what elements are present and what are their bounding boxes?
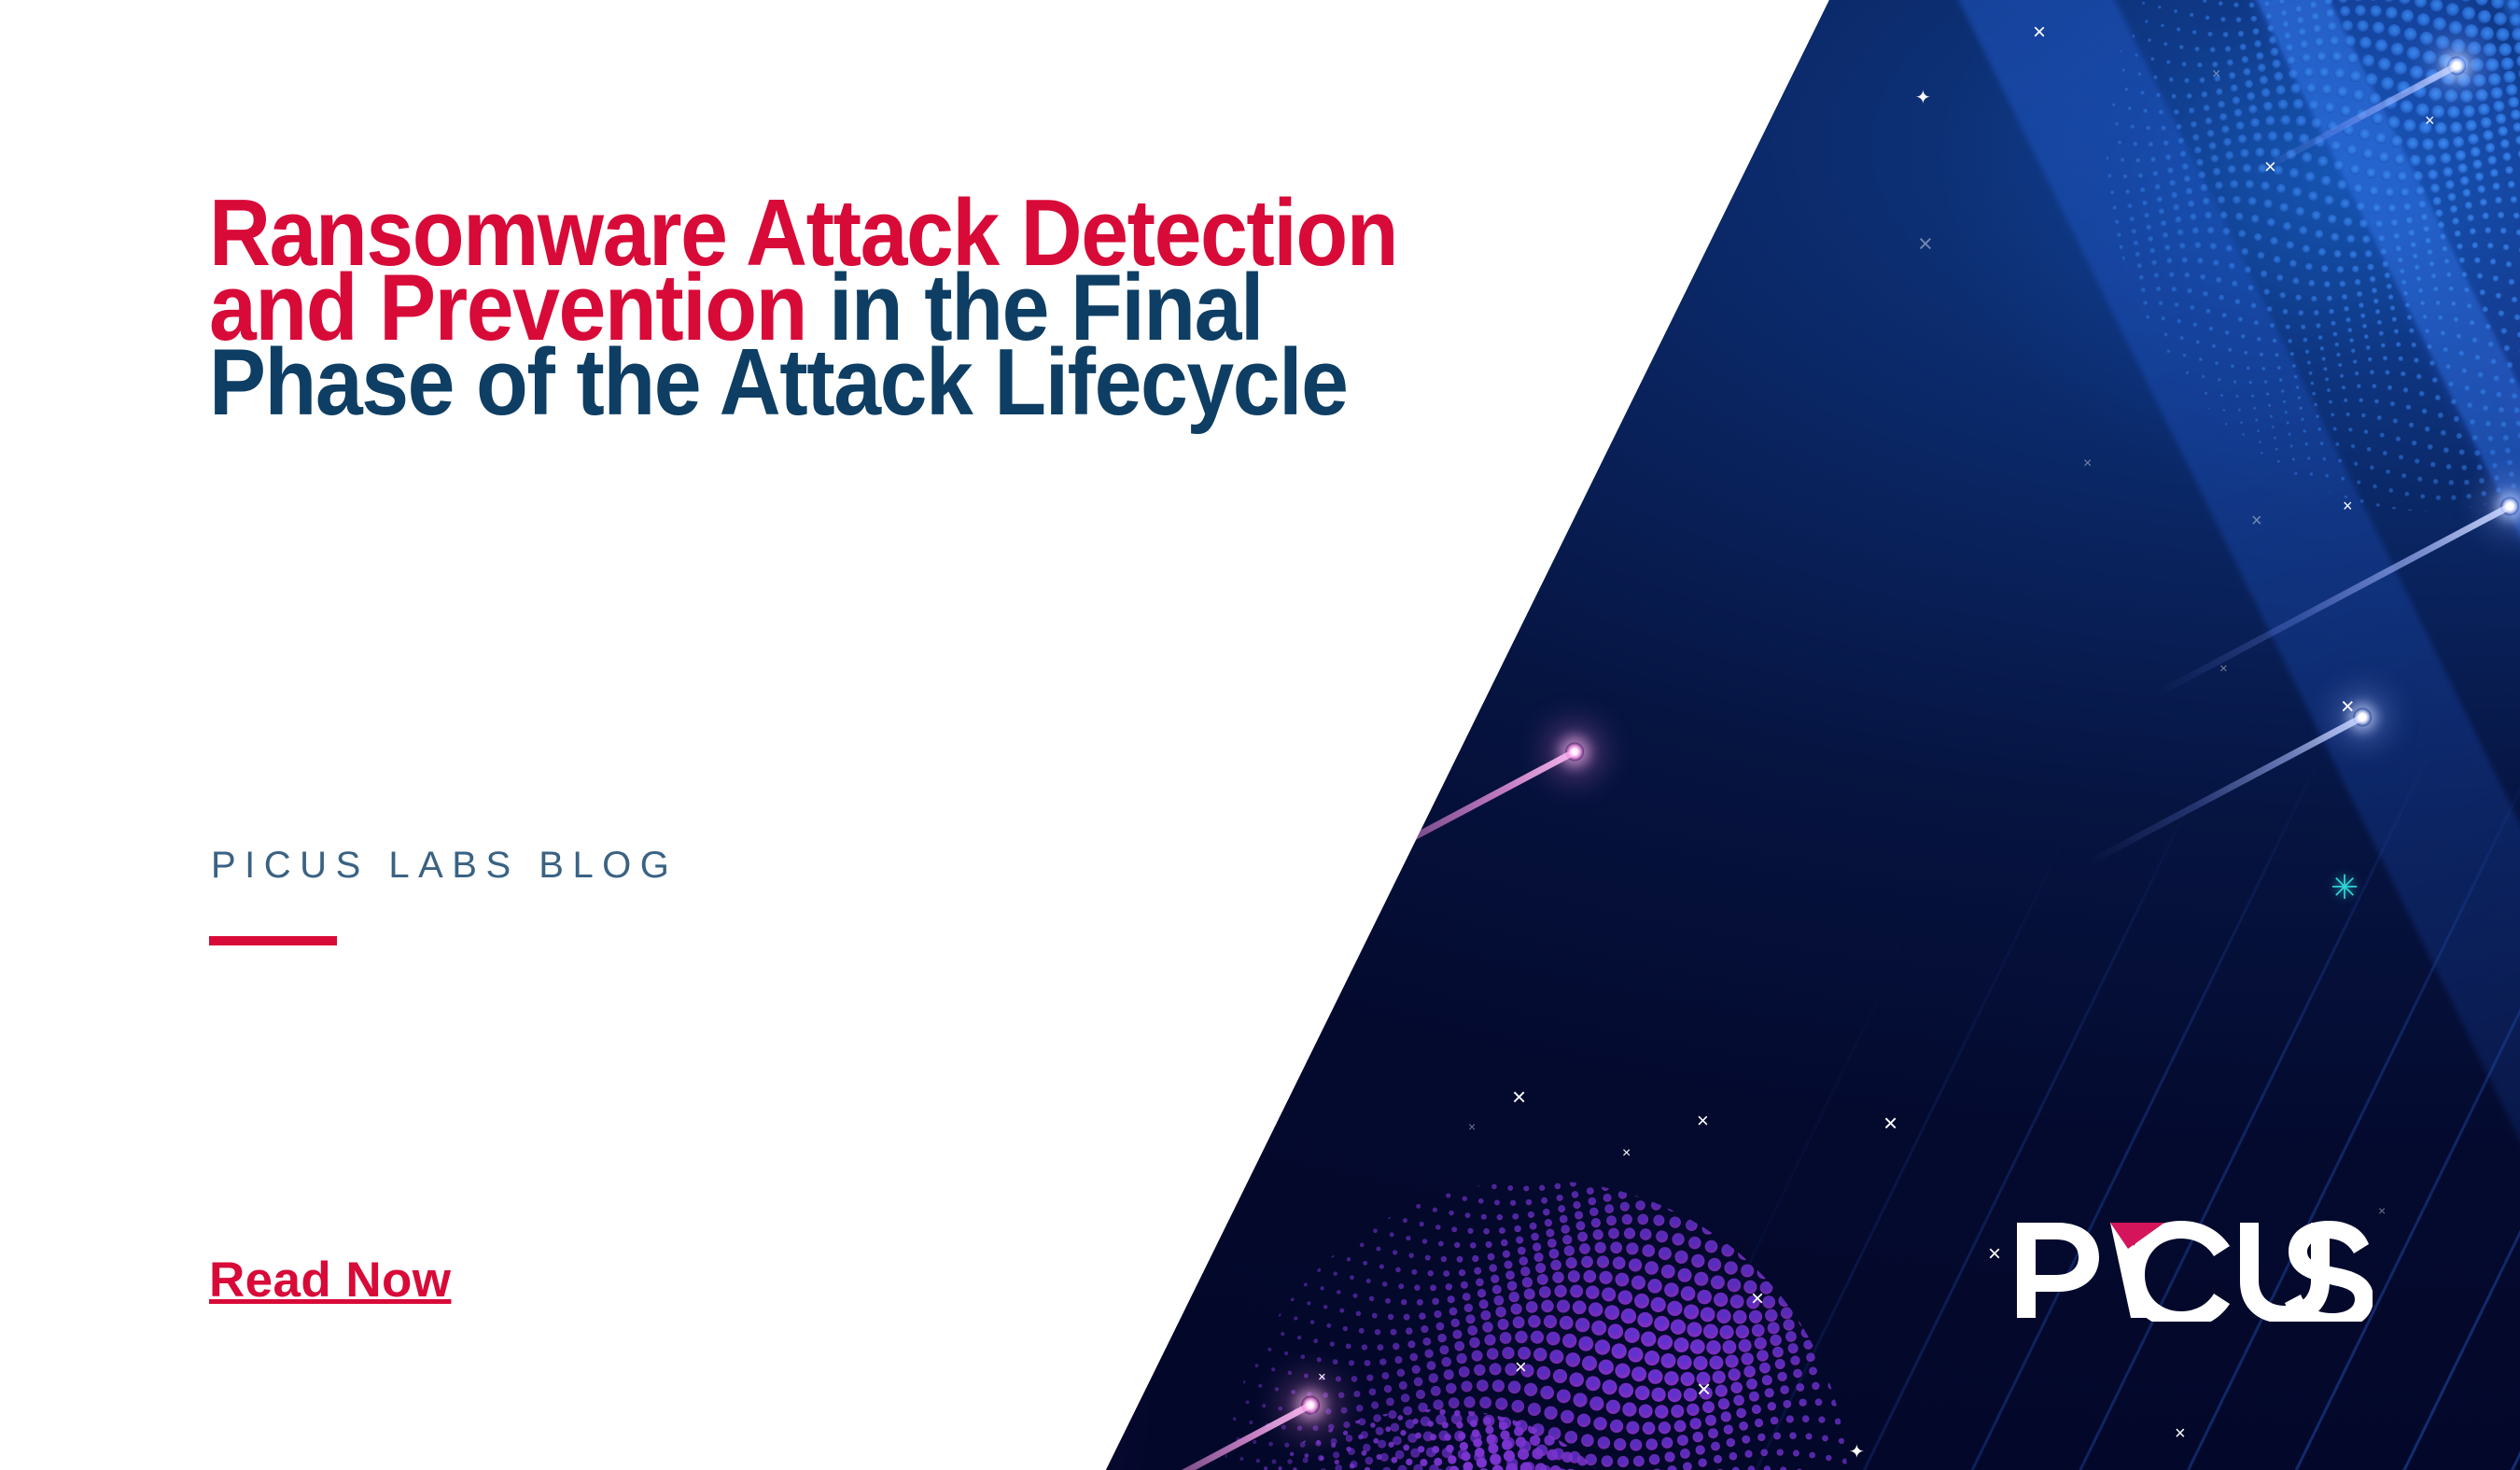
sparkle-x-icon: × (2251, 511, 2262, 530)
headline-line-3: Phase of the Attack Lifecycle (209, 330, 1348, 435)
sparkle-x-icon: × (1988, 1243, 2001, 1266)
sparkle-x-icon: × (1883, 1111, 1897, 1135)
sparkle-x-icon: × (2083, 456, 2092, 471)
sparkle-x-icon: × (2378, 1204, 2386, 1217)
sparkle-x-icon: × (2175, 1424, 2186, 1443)
sparkle-x-icon: × (1697, 1377, 1711, 1401)
sparkle-x-icon: × (2219, 662, 2228, 676)
sparkle-x-icon: ✦ (1849, 1443, 1865, 1462)
sparkle-x-icon: × (1918, 231, 1933, 257)
kicker-label: PICUS LABS BLOG (211, 845, 678, 887)
sparkle-x-icon: × (2425, 112, 2435, 129)
sparkle-star-teal-icon: ✳ (2331, 871, 2359, 904)
content-column: Ransomware Attack Detection and Preventi… (209, 0, 1609, 1470)
sparkle-x-icon: × (1622, 1146, 1631, 1161)
promo-card: × × × × × × × × × × ✳ × × × × × × × × × … (0, 0, 2520, 1470)
sparkle-x-icon: × (2341, 695, 2355, 719)
sparkle-x-icon: × (2033, 21, 2046, 44)
sparkle-x-icon: × (2343, 497, 2353, 514)
sparkle-x-icon: × (2264, 157, 2276, 177)
sparkle-x-icon: × (1751, 1288, 1764, 1310)
sparkle-x-icon: × (1697, 1111, 1709, 1131)
page-title: Ransomware Attack Detection and Preventi… (209, 196, 1408, 420)
halftone-sphere-blue-icon (2035, 0, 2520, 588)
sparkle-star-icon: ✦ (1915, 89, 1931, 107)
sparkle-x-icon: × (2212, 67, 2220, 82)
read-now-link[interactable]: Read Now (209, 1252, 451, 1309)
picus-logo[interactable] (2013, 1219, 2373, 1322)
accent-bar (209, 936, 337, 945)
